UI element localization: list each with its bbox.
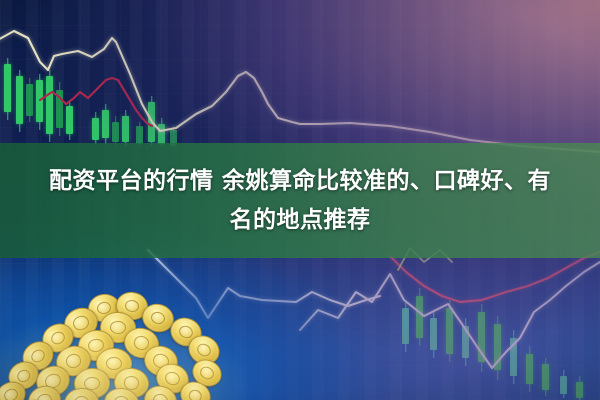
banner-image: 配资平台的行情 余姚算命比较准的、口碑好、有 名的地点推荐 [0,0,600,400]
headline-line-2: 名的地点推荐 [20,201,580,240]
headline-line-1: 配资平台的行情 余姚算命比较准的、口碑好、有 [20,162,580,201]
page-title: 配资平台的行情 余姚算命比较准的、口碑好、有 名的地点推荐 [20,162,580,240]
headline-band: 配资平台的行情 余姚算命比较准的、口碑好、有 名的地点推荐 [0,143,600,258]
